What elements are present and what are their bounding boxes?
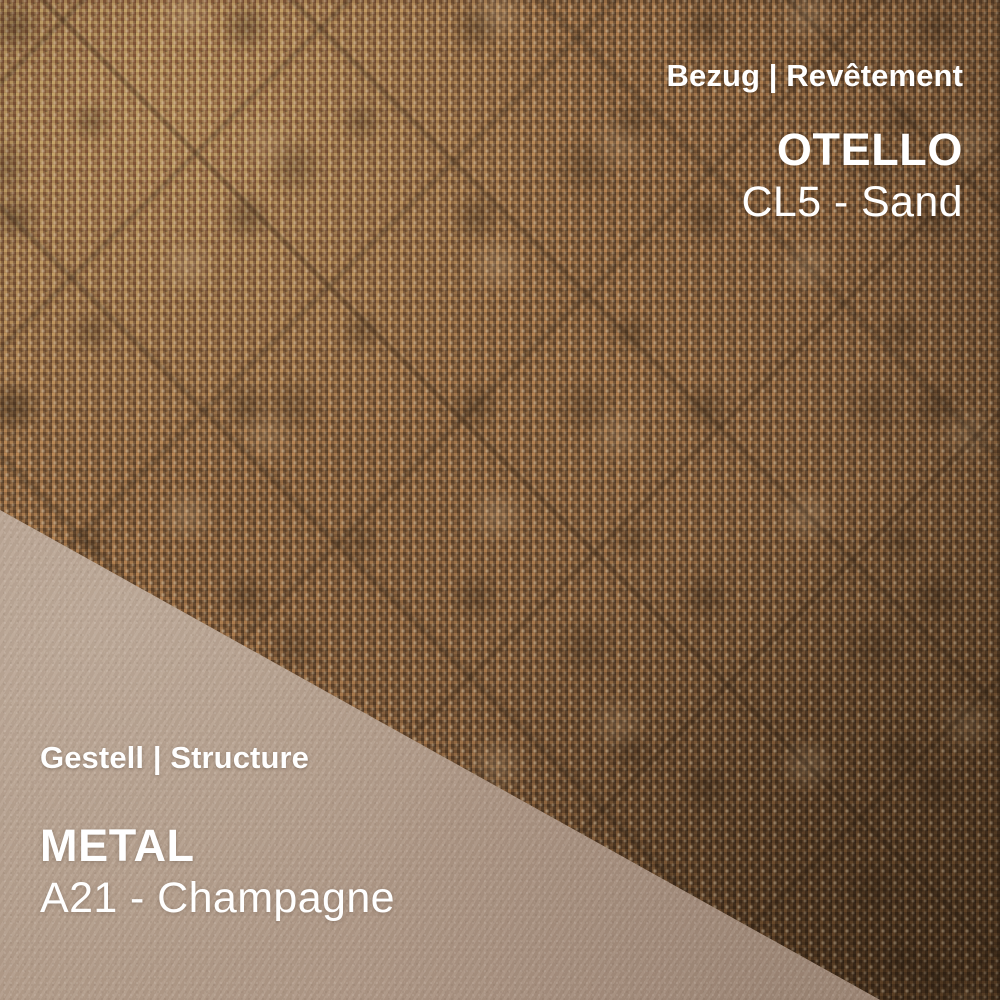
upholstery-kicker-de: Bezug — [667, 58, 761, 93]
upholstery-kicker: Bezug | Revêtement — [667, 56, 963, 96]
upholstery-material-name: OTELLO — [667, 124, 963, 176]
structure-kicker-fr: Structure — [170, 740, 309, 775]
upholstery-material-code: CL5 - Sand — [667, 176, 963, 228]
structure-info-block: Gestell | Structure METAL A21 - Champagn… — [40, 738, 395, 924]
structure-kicker-separator: | — [153, 740, 162, 775]
structure-kicker-de: Gestell — [40, 740, 144, 775]
structure-kicker: Gestell | Structure — [40, 738, 395, 778]
material-swatch-card: Bezug | Revêtement OTELLO CL5 - Sand Ges… — [0, 0, 1000, 1000]
upholstery-info-block: Bezug | Revêtement OTELLO CL5 - Sand — [667, 56, 963, 228]
upholstery-kicker-separator: | — [769, 58, 778, 93]
upholstery-kicker-fr: Revêtement — [786, 58, 963, 93]
structure-material-code: A21 - Champagne — [40, 872, 395, 924]
structure-material-name: METAL — [40, 820, 395, 872]
